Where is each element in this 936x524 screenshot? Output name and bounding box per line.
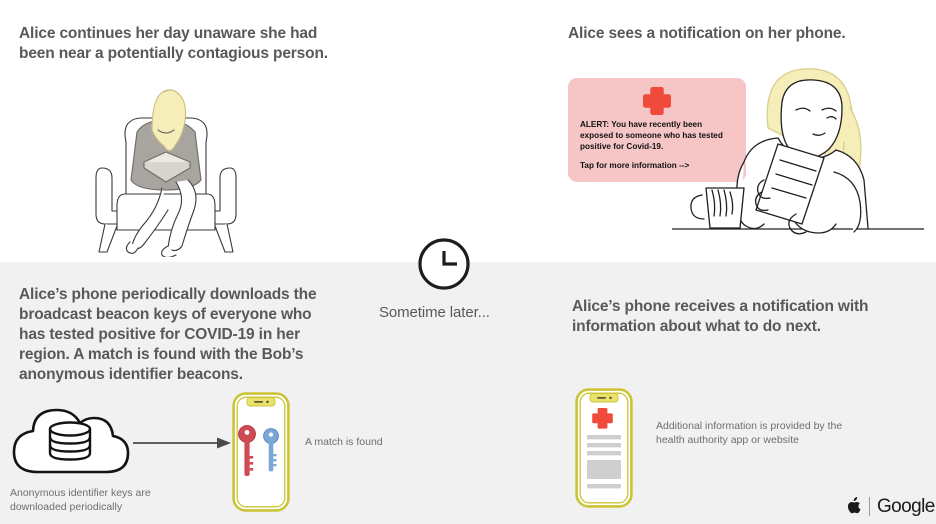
phone-with-health-notice-icon [575,388,633,508]
bottom-right-headline: Alice’s phone receives a notification wi… [572,297,902,337]
clock-icon [416,236,472,292]
bottom-left-headline: Alice’s phone periodically downloads the… [19,285,331,385]
cloud-database-icon [12,404,130,476]
match-found-caption: A match is found [305,436,385,450]
apple-logo-icon [846,497,862,516]
medical-cross-icon [641,85,673,117]
phone-with-two-keys-icon [232,392,290,512]
top-right-headline: Alice sees a notification on her phone. [568,24,918,44]
google-wordmark: Google [877,497,935,516]
cloud-caption: Anonymous identifier keys are downloaded… [10,487,200,514]
woman-reading-in-armchair-illustration [92,82,240,257]
partner-logos: Google [846,494,935,518]
right-arrow-icon [133,436,231,450]
additional-info-caption: Additional information is provided by th… [656,420,871,447]
sometime-later-label: Sometime later... [379,304,529,321]
infographic-canvas: Alice continues her day unaware she had … [0,0,936,524]
logo-divider [869,497,870,516]
top-left-headline: Alice continues her day unaware she had … [19,24,349,64]
woman-holding-phone-illustration [672,62,924,252]
